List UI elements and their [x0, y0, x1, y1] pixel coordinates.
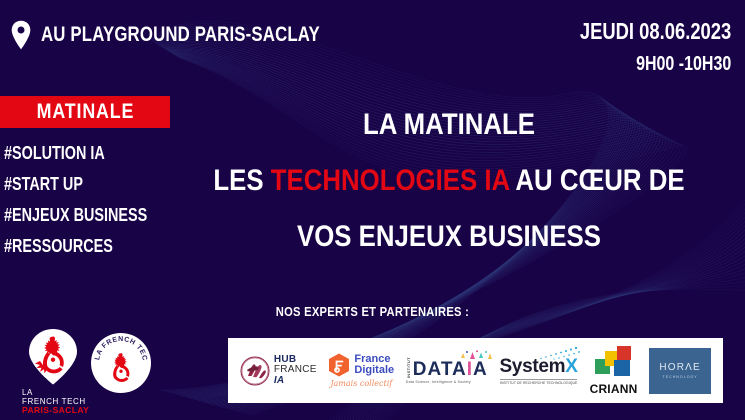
partner-logo-dataia: INSTITUT DATAIA Da [406, 357, 488, 384]
dataia-word-a: DAT [413, 359, 452, 380]
partner-logo-systemx: SystemX INSTITUT DE RECHERCHE TECHNOLOGI… [499, 356, 577, 385]
dataia-word-b: A [452, 359, 467, 380]
partners-heading: NOS EXPERTS ET PARTENAIRES : [0, 304, 745, 319]
hashtag-list: #SOLUTION IA #START UP #ENJEUX BUSINESS … [4, 143, 184, 267]
partner-logo-france-digitale: France Digitale Jamais collectif [328, 353, 394, 388]
dataia-tagline: Data Science, Intelligence & Society [406, 380, 471, 384]
date-block: JEUDI 08.06.2023 9H00 -10H30 [542, 18, 731, 76]
french-tech-paris-saclay-line-1: LA [22, 388, 89, 397]
horae-title: HORΛE [659, 362, 701, 373]
venue-block: AU PLAYGROUND PARIS-SACLAY [10, 20, 390, 50]
partners-heading-label: NOS EXPERTS ET PARTENAIRES : [276, 304, 469, 319]
dataia-wordmark: DATAIA [413, 361, 488, 378]
title-highlight: TECHNOLOGIES IA [271, 164, 509, 197]
hashtag-item: #ENJEUX BUSINESS [4, 205, 148, 226]
partner-logo-horae-technology: HORΛE TECHNOLOGY [649, 348, 711, 394]
hub-france-ia-line-3: IA [274, 376, 317, 386]
criann-squares-icon [593, 345, 635, 381]
map-pin-icon [10, 20, 32, 50]
venue-label: AU PLAYGROUND PARIS-SACLAY [41, 23, 320, 47]
matinale-badge: MATINALE [0, 96, 170, 128]
title-line-2: LES TECHNOLOGIES IA AU CŒUR DE [213, 164, 684, 198]
title-line-1: LA MATINALE [213, 108, 684, 142]
systemx-tagline: INSTITUT DE RECHERCHE TECHNOLOGIQUE [500, 379, 577, 385]
event-date: JEUDI 08.06.2023 [580, 18, 731, 45]
hashtag-item: #SOLUTION IA [4, 143, 148, 164]
dataia-institute-label: INSTITUT [406, 357, 411, 378]
france-digitale-line-2: Digitale [354, 365, 394, 376]
french-tech-logos: LA FRENCH TECH PARIS-SACLAY LA FRENCH TE… [22, 328, 172, 416]
partner-logo-criann: CRIANN [590, 345, 638, 396]
systemx-dots-icon [536, 346, 582, 362]
title-line-2-pre: LES [213, 164, 270, 197]
partner-logo-strip: HUB FRANCE IA France Digitale [228, 338, 723, 403]
event-title: LA MATINALE LES TECHNOLOGIES IA AU CŒUR … [175, 108, 723, 254]
france-digitale-hexagon-icon [328, 353, 350, 377]
horae-subtitle: TECHNOLOGY [663, 375, 698, 379]
criann-label: CRIANN [590, 382, 638, 396]
hub-france-ia-mark-icon [240, 356, 270, 386]
france-digitale-script: Jamais collectif [330, 379, 392, 388]
event-time: 9H00 -10H30 [580, 53, 731, 76]
french-tech-central-logo: LA FRENCH TECH CENTRAL [90, 332, 152, 394]
title-line-2-post: AU CŒUR DE [509, 164, 684, 197]
dataia-word-d: A [473, 359, 488, 380]
dataia-confetti-icon [457, 350, 497, 362]
french-tech-paris-saclay-line-3: PARIS-SACLAY [22, 406, 89, 416]
partner-logo-hub-france-ia: HUB FRANCE IA [240, 355, 317, 386]
hashtag-item: #START UP [4, 174, 148, 195]
french-tech-paris-saclay-logo: LA FRENCH TECH PARIS-SACLAY [22, 328, 89, 416]
matinale-badge-label: MATINALE [36, 100, 134, 124]
event-poster: AU PLAYGROUND PARIS-SACLAY JEUDI 08.06.2… [0, 0, 745, 420]
title-line-3: VOS ENJEUX BUSINESS [213, 220, 684, 254]
french-tech-pin-icon [22, 328, 84, 386]
hashtag-item: #RESSOURCES [4, 236, 148, 257]
